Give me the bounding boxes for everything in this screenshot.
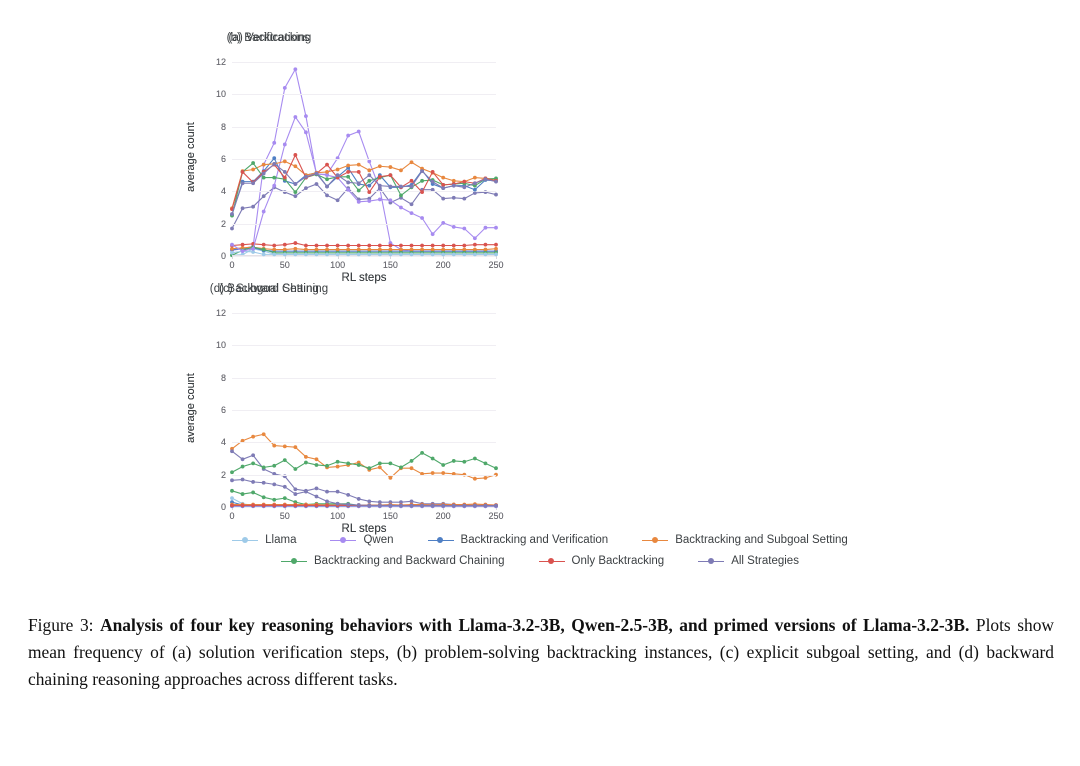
- x-axis-tick-label: 150: [383, 511, 398, 521]
- data-point: [389, 461, 393, 465]
- legend-row-1: LlamaQwenBacktracking and VerificationBa…: [215, 534, 865, 546]
- y-axis-label-d: average count: [185, 353, 197, 463]
- data-point: [484, 504, 488, 508]
- data-point: [378, 503, 382, 507]
- data-point: [357, 463, 361, 467]
- data-point: [293, 467, 297, 471]
- y-axis-tick-label: 2: [221, 470, 226, 480]
- data-point: [251, 503, 255, 507]
- plot-area-d: 024681012050100150200250RL steps: [232, 313, 496, 507]
- series-line: [232, 453, 496, 472]
- data-point: [346, 461, 350, 465]
- data-point: [272, 464, 276, 468]
- data-point: [336, 502, 340, 506]
- data-point: [452, 504, 456, 508]
- legend-swatch-icon: [539, 556, 565, 566]
- legend-label: Backtracking and Subgoal Setting: [675, 534, 848, 546]
- x-axis-tick-label: 50: [280, 511, 290, 521]
- legend-swatch-icon: [232, 535, 258, 545]
- data-point: [304, 490, 308, 494]
- legend-label: Backtracking and Verification: [461, 534, 609, 546]
- legend-item-all-strategies[interactable]: All Strategies: [698, 555, 799, 567]
- data-point: [293, 492, 297, 496]
- data-point: [272, 503, 276, 507]
- data-point: [367, 503, 371, 507]
- data-point: [494, 504, 498, 508]
- data-point: [378, 461, 382, 465]
- legend-label: Backtracking and Backward Chaining: [314, 555, 505, 567]
- data-point: [357, 503, 361, 507]
- x-axis-tick-label: 100: [330, 511, 345, 521]
- data-point: [367, 466, 371, 470]
- data-point: [304, 503, 308, 507]
- data-point: [293, 503, 297, 507]
- legend-label: Llama: [265, 534, 296, 546]
- data-point: [325, 499, 329, 503]
- data-point: [473, 457, 477, 461]
- x-axis-tick-label: 250: [488, 511, 503, 521]
- gridline-y: [232, 507, 496, 508]
- data-point: [283, 458, 287, 462]
- y-axis-tick-label: 12: [216, 308, 226, 318]
- data-point: [230, 478, 234, 482]
- y-axis-tick-label: 6: [221, 405, 226, 415]
- data-point: [494, 466, 498, 470]
- legend-label: Only Backtracking: [572, 555, 665, 567]
- data-point: [441, 504, 445, 508]
- data-point: [399, 465, 403, 469]
- data-point: [315, 495, 319, 499]
- caption-figure-number: Figure 3:: [28, 615, 94, 635]
- legend-swatch-icon: [281, 556, 307, 566]
- data-point: [410, 504, 414, 508]
- legend-swatch-icon: [330, 535, 356, 545]
- y-axis-tick-label: 0: [221, 502, 226, 512]
- data-point: [325, 503, 329, 507]
- data-point: [230, 470, 234, 474]
- data-point: [452, 459, 456, 463]
- series-backtracking-and-backward-chaining: [230, 451, 498, 474]
- data-point: [283, 485, 287, 489]
- data-point: [315, 463, 319, 467]
- legend-label: All Strategies: [731, 555, 799, 567]
- data-point: [251, 480, 255, 484]
- data-point: [462, 460, 466, 464]
- legend-item-qwen[interactable]: Qwen: [330, 534, 393, 546]
- data-point: [431, 457, 435, 461]
- figure-3-container: (a) Verifications02468101205010015020025…: [0, 0, 1080, 766]
- legend-swatch-icon: [698, 556, 724, 566]
- series-all-strategies: [230, 478, 498, 508]
- data-point: [420, 504, 424, 508]
- data-point: [484, 461, 488, 465]
- legend-item-backtracking-and-backward-chaining[interactable]: Backtracking and Backward Chaining: [281, 555, 505, 567]
- data-point: [251, 461, 255, 465]
- y-axis-tick-label: 10: [216, 340, 226, 350]
- chart-panel-d: (d) Backward Chaining0246810120501001502…: [0, 0, 1080, 530]
- legend-swatch-icon: [642, 535, 668, 545]
- data-point: [441, 463, 445, 467]
- data-point: [336, 460, 340, 464]
- data-point: [241, 465, 245, 469]
- data-point: [262, 503, 266, 507]
- legend-item-backtracking-and-verification[interactable]: Backtracking and Verification: [428, 534, 609, 546]
- legend-label: Qwen: [363, 534, 393, 546]
- data-point: [262, 465, 266, 469]
- legend-row-2: Backtracking and Backward ChainingOnly B…: [264, 555, 816, 567]
- y-axis-tick-label: 4: [221, 437, 226, 447]
- data-point: [473, 504, 477, 508]
- data-point: [420, 451, 424, 455]
- data-point: [230, 503, 234, 507]
- legend-item-only-backtracking[interactable]: Only Backtracking: [539, 555, 665, 567]
- data-point: [346, 503, 350, 507]
- data-point: [241, 478, 245, 482]
- data-point: [325, 464, 329, 468]
- data-point: [241, 503, 245, 507]
- data-point: [262, 481, 266, 485]
- data-point: [399, 504, 403, 508]
- data-point: [389, 503, 393, 507]
- panel-title-d: (d) Backward Chaining: [42, 283, 496, 295]
- data-point: [431, 504, 435, 508]
- chart-legend: LlamaQwenBacktracking and VerificationBa…: [0, 534, 1080, 567]
- charts-grid: (a) Verifications02468101205010015020025…: [0, 0, 1080, 530]
- x-axis-tick-label: 0: [229, 511, 234, 521]
- data-point: [304, 461, 308, 465]
- legend-swatch-icon: [428, 535, 454, 545]
- data-point: [315, 503, 319, 507]
- data-point: [283, 503, 287, 507]
- legend-item-llama[interactable]: Llama: [232, 534, 296, 546]
- x-axis-tick-label: 200: [436, 511, 451, 521]
- legend-item-backtracking-and-subgoal-setting[interactable]: Backtracking and Subgoal Setting: [642, 534, 848, 546]
- data-point: [272, 482, 276, 486]
- caption-bold-text: Analysis of four key reasoning behaviors…: [100, 615, 969, 635]
- series-layer-d: [232, 313, 496, 507]
- y-axis-tick-label: 8: [221, 373, 226, 383]
- series-line: [232, 480, 496, 506]
- data-point: [410, 459, 414, 463]
- figure-caption: Figure 3: Analysis of four key reasoning…: [28, 612, 1054, 693]
- data-point: [462, 504, 466, 508]
